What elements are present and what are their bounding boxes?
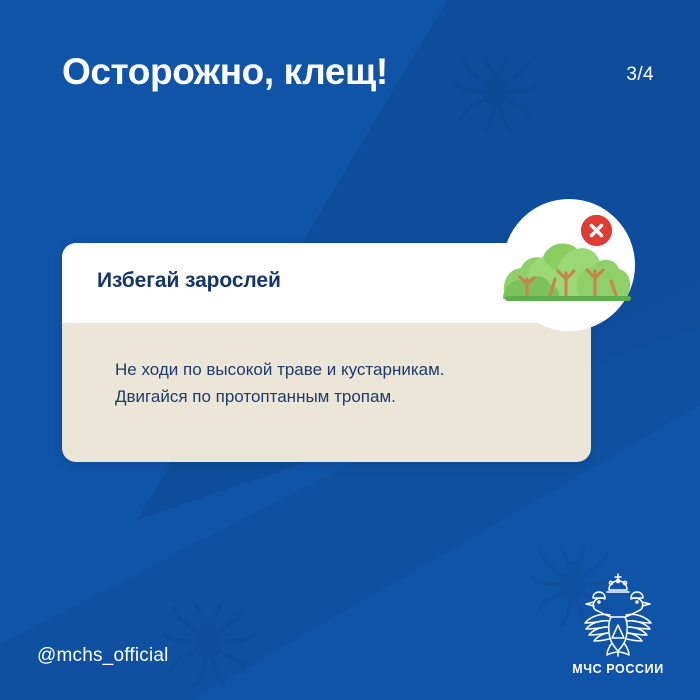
emblem-label: МЧС РОССИИ xyxy=(566,662,670,676)
double-headed-eagle-emblem-icon xyxy=(577,571,659,659)
mchs-emblem: МЧС РОССИИ xyxy=(566,571,670,676)
page-indicator: 3/4 xyxy=(626,64,654,86)
advice-card-heading: Избегай зарослей xyxy=(97,269,281,293)
poster-canvas: Осторожно, клещ! 3/4 xyxy=(0,0,700,700)
illustration-circle xyxy=(503,199,635,331)
prohibition-cross-icon xyxy=(581,215,612,246)
social-handle: @mchs_official xyxy=(37,645,169,667)
bushes-illustration xyxy=(503,199,635,331)
advice-card-text: Не ходи по высокой траве и кустарникам. … xyxy=(115,356,445,410)
advice-card-body: Не ходи по высокой траве и кустарникам. … xyxy=(62,323,591,462)
page-title: Осторожно, клещ! xyxy=(62,51,388,93)
